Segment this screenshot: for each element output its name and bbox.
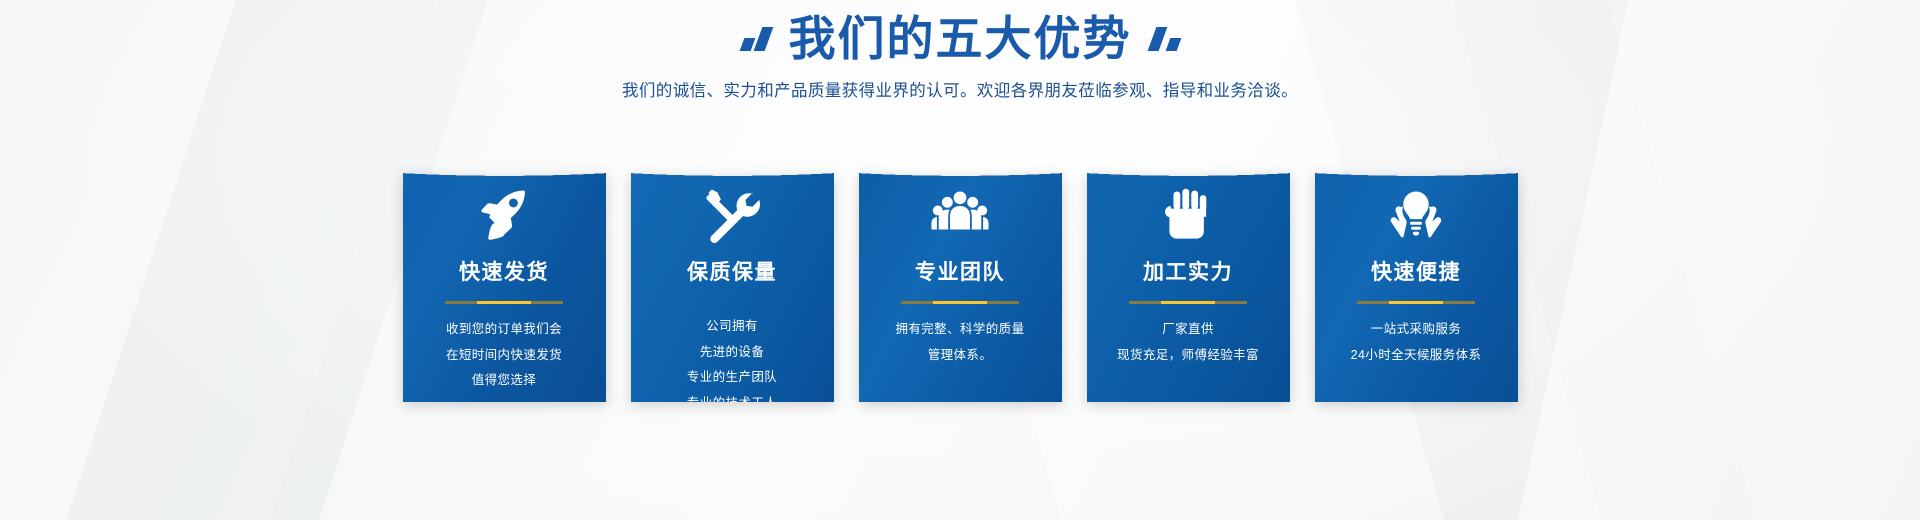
card-body-line: 厂家直供: [1117, 317, 1259, 343]
card-divider: [1357, 301, 1475, 304]
section-header: 我们的五大优势 我们的诚信、实力和产品质量获得业界的认可。欢迎各界朋友莅临参观、…: [0, 0, 1920, 101]
advantage-card-list: 快速发货 收到您的订单我们会 在短时间内快速发货 值得您选择 保质保量: [0, 142, 1920, 402]
card-body: 收到您的订单我们会 在短时间内快速发货 值得您选择: [446, 317, 562, 394]
hands-lightbulb-icon: [1387, 186, 1445, 244]
fist-icon: [1159, 186, 1217, 244]
card-body-line: 在短时间内快速发货: [446, 343, 562, 369]
advantage-card[interactable]: 加工实力 厂家直供 现货充足，师傅经验丰富: [1087, 142, 1290, 402]
card-body-line: 拥有完整、科学的质量: [895, 317, 1024, 343]
advantage-card[interactable]: 快速发货 收到您的订单我们会 在短时间内快速发货 值得您选择: [403, 142, 606, 402]
title-row: 我们的五大优势: [0, 14, 1920, 63]
card-body-line: 收到您的订单我们会: [446, 317, 562, 343]
people-group-icon: [931, 186, 989, 244]
card-body-line: 现货充足，师傅经验丰富: [1117, 343, 1259, 369]
advantage-card[interactable]: 专业团队 拥有完整、科学的质量 管理体系。: [859, 142, 1062, 402]
card-body: 公司拥有 先进的设备 专业的生产团队 专业的技术工人: [687, 314, 777, 402]
card-body-line: 专业的技术工人: [687, 391, 777, 402]
card-title: 快速发货: [459, 256, 549, 286]
card-title: 专业团队: [915, 256, 1005, 286]
slash-decoration-left-icon: [742, 27, 769, 51]
rocket-icon: [475, 186, 533, 244]
wrench-screwdriver-icon: [703, 186, 761, 244]
card-title: 加工实力: [1143, 256, 1233, 286]
advantage-card[interactable]: 快速便捷 一站式采购服务 24小时全天候服务体系: [1315, 142, 1518, 402]
card-body: 一站式采购服务 24小时全天候服务体系: [1351, 317, 1482, 368]
card-title: 保质保量: [687, 256, 777, 286]
card-body-line: 一站式采购服务: [1351, 317, 1482, 343]
advantage-card[interactable]: 保质保量 公司拥有 先进的设备 专业的生产团队 专业的技术工人: [631, 142, 834, 402]
card-body-line: 管理体系。: [895, 343, 1024, 369]
card-divider: [445, 301, 563, 304]
card-divider: [901, 301, 1019, 304]
card-body: 厂家直供 现货充足，师傅经验丰富: [1117, 317, 1259, 368]
card-body-line: 先进的设备: [687, 340, 777, 366]
page-subtitle: 我们的诚信、实力和产品质量获得业界的认可。欢迎各界朋友莅临参观、指导和业务洽谈。: [0, 77, 1920, 101]
card-body: 拥有完整、科学的质量 管理体系。: [895, 317, 1024, 368]
card-body-line: 24小时全天候服务体系: [1351, 343, 1482, 369]
card-divider: [1129, 301, 1247, 304]
slash-decoration-right-icon: [1152, 27, 1179, 51]
page-title: 我们的五大优势: [789, 14, 1132, 63]
card-body-line: 公司拥有: [687, 314, 777, 340]
card-title: 快速便捷: [1371, 256, 1461, 286]
card-body-line: 专业的生产团队: [687, 365, 777, 391]
card-body-line: 值得您选择: [446, 368, 562, 394]
